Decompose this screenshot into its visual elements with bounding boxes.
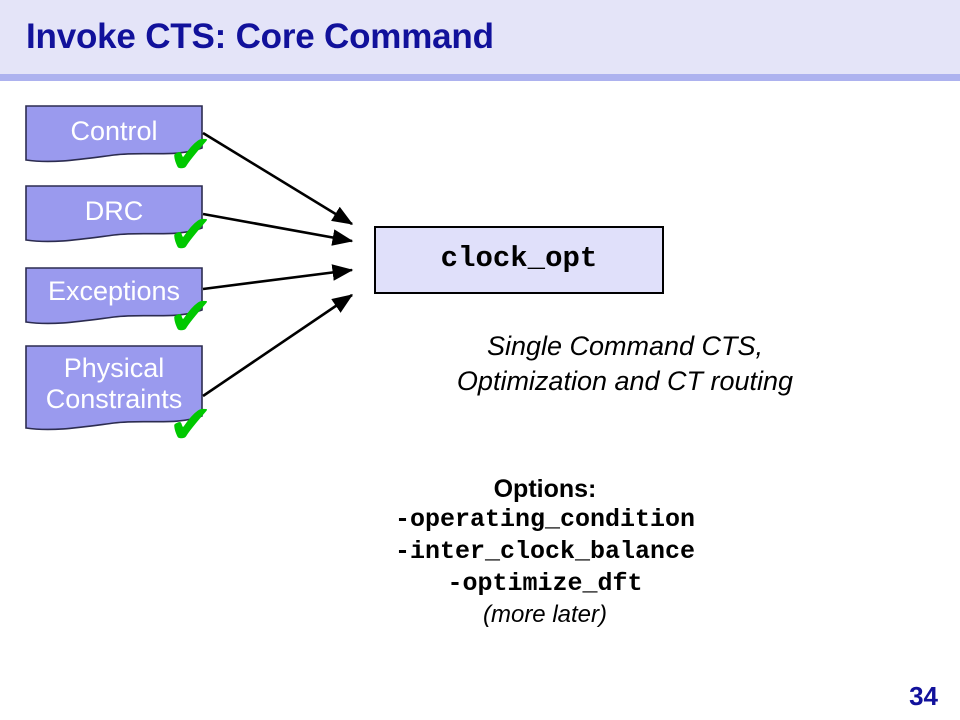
check-icon-drc: ✔ [168, 208, 213, 262]
page-title: Invoke CTS: Core Command [26, 17, 494, 57]
check-icon-exceptions: ✔ [168, 290, 213, 344]
command-name: clock_opt [376, 242, 662, 275]
option-item: -inter_clock_balance [320, 536, 770, 568]
option-item: -optimize_dft [320, 568, 770, 600]
page-number: 34 [909, 681, 938, 712]
arrow-physical-constraints-to-clock-opt [203, 295, 352, 396]
command-caption: Single Command CTS, Optimization and CT … [360, 329, 890, 399]
options-title: Options: [320, 474, 770, 504]
option-item: -operating_condition [320, 504, 770, 536]
options-block: Options: -operating_condition -inter_clo… [320, 474, 770, 630]
options-note: (more later) [320, 600, 770, 630]
check-icon-control: ✔ [168, 128, 213, 182]
arrow-drc-to-clock-opt [203, 214, 352, 241]
header-divider-rule [0, 74, 960, 81]
arrow-exceptions-to-clock-opt [203, 270, 352, 289]
check-icon-physical-constraints: ✔ [168, 398, 213, 452]
arrow-control-to-clock-opt [203, 133, 352, 224]
command-box: clock_opt [374, 226, 664, 294]
slide-canvas: Invoke CTS: Core Command Control ✔ DRC ✔… [0, 0, 960, 720]
